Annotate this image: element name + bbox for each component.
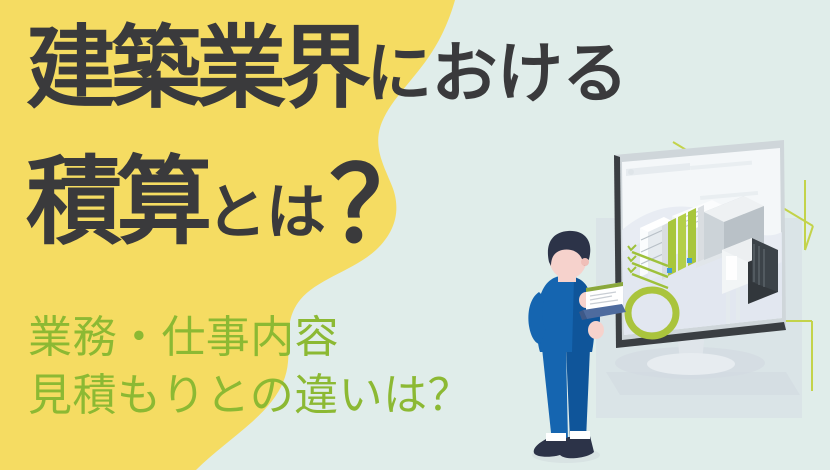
text-layer: 建築業界における 積算とは？ 業務・仕事内容 見積もりとの違いは？ bbox=[0, 0, 830, 470]
title-question-mark: ？ bbox=[329, 148, 433, 264]
title-line-1-kana: における bbox=[366, 36, 627, 110]
page-title-line-2: 積算とは？ bbox=[26, 148, 429, 252]
title-line-1-kanji: 建築業界 bbox=[26, 19, 366, 119]
subtitle-line-1: 業務・仕事内容 bbox=[28, 316, 339, 360]
title-line-2-kanji: 積算 bbox=[26, 149, 206, 256]
page-title-line-1: 建築業界における bbox=[26, 24, 628, 114]
poster-canvas: 建築業界における 積算とは？ 業務・仕事内容 見積もりとの違いは？ bbox=[0, 0, 830, 470]
title-line-2-kana: とは bbox=[206, 179, 325, 246]
subtitle-line-2: 見積もりとの違いは？ bbox=[28, 374, 472, 418]
